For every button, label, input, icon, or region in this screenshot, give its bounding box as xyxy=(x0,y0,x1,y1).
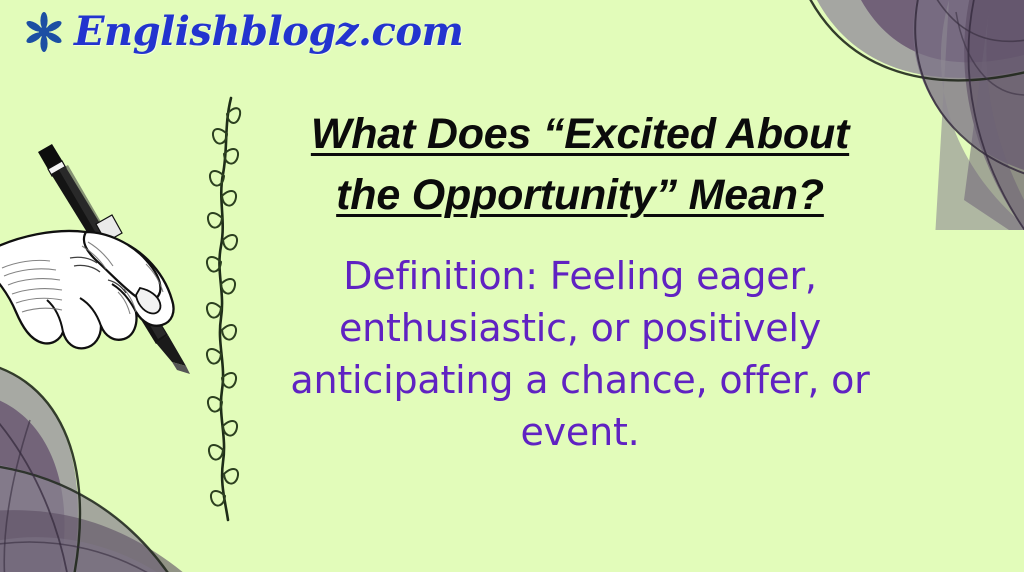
definition-text: Definition: Feeling eager, enthusiastic,… xyxy=(262,250,898,458)
page-title-line-2: the Opportunity” Mean? xyxy=(336,171,824,219)
site-logo[interactable]: Englishblogz.com xyxy=(24,4,463,60)
definition-line-2: enthusiastic, or positively xyxy=(339,306,821,350)
asterisk-flower-icon xyxy=(24,12,64,52)
definition-line-3: anticipating a chance, offer, or xyxy=(290,358,869,402)
leafy-vine-divider xyxy=(198,92,254,532)
hand-holding-pen-illustration xyxy=(0,140,215,390)
definition-line-4: event. xyxy=(520,410,639,454)
page-title: What Does “Excited About the Opportunity… xyxy=(262,104,898,226)
slide-canvas: Englishblogz.com xyxy=(0,0,1024,572)
site-logo-text: Englishblogz.com xyxy=(74,12,463,52)
content-column: What Does “Excited About the Opportunity… xyxy=(262,104,898,458)
definition-line-1: Definition: Feeling eager, xyxy=(343,254,817,298)
page-title-line-1: What Does “Excited About xyxy=(311,110,849,158)
